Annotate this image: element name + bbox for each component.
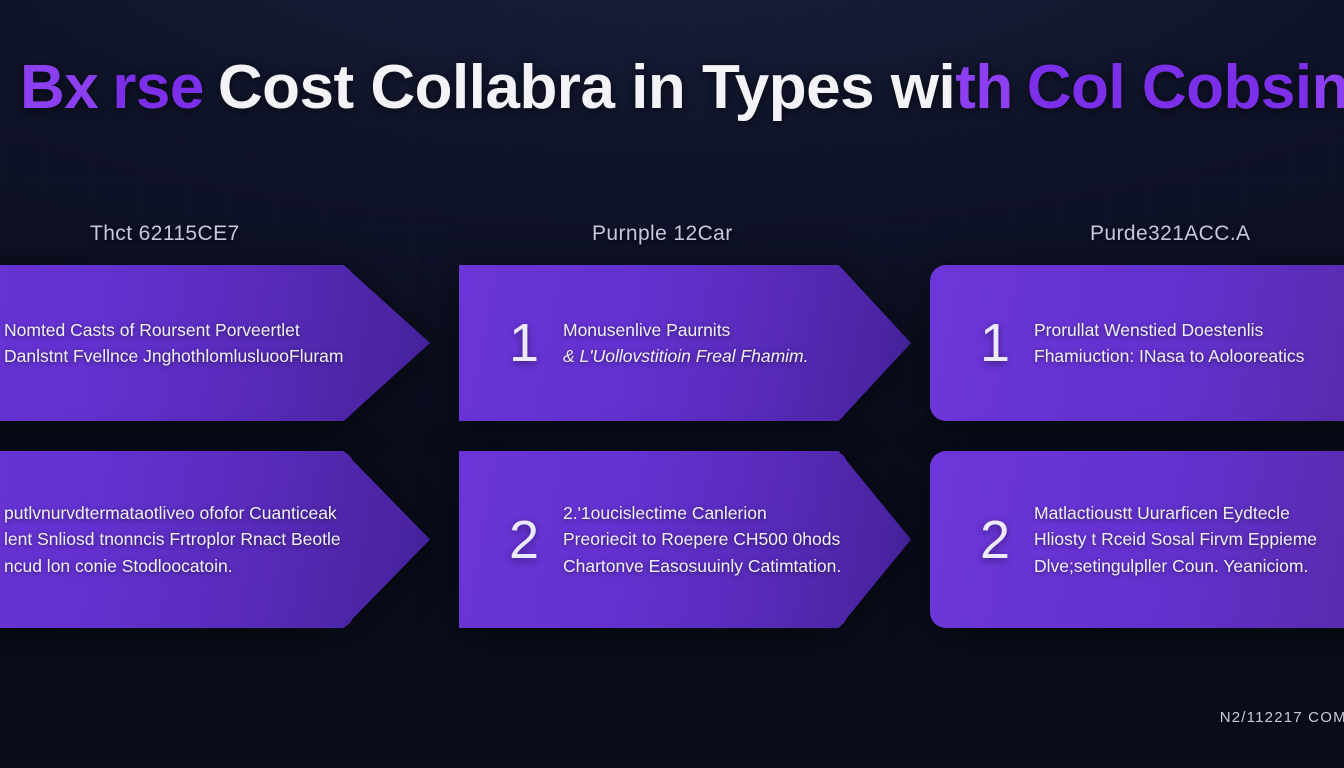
card-text-line: Fhamiuction: INasa to Aolooreatics xyxy=(1034,343,1344,369)
card-row2-col1[interactable]: putlvnurvdtermataotliveo ofofor Cuantice… xyxy=(0,451,430,628)
card-text-line: Nomted Casts of Roursent Porveertlet xyxy=(4,317,404,343)
card-text-line: Chartonve Easosuuinly Catimtation. xyxy=(563,553,885,579)
title-segment-3: Cost Collabra in Types wi xyxy=(218,53,955,122)
card-text-line: Preoriecit to Roepere CH500 0hods xyxy=(563,526,885,552)
card-content: 2 Matlactioustt Uurarficen Eydtecle Hlio… xyxy=(930,451,1344,628)
card-text-line: Danlstnt Fvellnce JnghothlomlusluooFlura… xyxy=(4,343,404,369)
card-content: 1 Prorullat Wenstied Doestenlis Fhamiuct… xyxy=(930,265,1344,421)
card-text-line: lent Snliosd tnonncis Frtroplor Rnact Be… xyxy=(4,526,404,552)
card-row1-col2[interactable]: 1 Monusenlive Paurnits & L'Uollovstitioi… xyxy=(459,265,911,421)
card-text-line: putlvnurvdtermataotliveo ofofor Cuantice… xyxy=(4,500,404,526)
card-text-line: Hliosty t Rceid Sosal Firvm Eppieme xyxy=(1034,526,1344,552)
card-text-line: Prorullat Wenstied Doestenlis xyxy=(1034,317,1344,343)
card-row2-col3[interactable]: 2 Matlactioustt Uurarficen Eydtecle Hlio… xyxy=(930,451,1344,628)
card-number: 1 xyxy=(956,316,1034,370)
slide-canvas: BxrseCost Collabra in Types withCol Cobs… xyxy=(0,0,1344,768)
footer-label: N2/112217 COMP xyxy=(1220,709,1344,726)
card-content: Nomted Casts of Roursent Porveertlet Dan… xyxy=(0,265,430,421)
card-content: 2 2.'1oucislectime Canlerion Preoriecit … xyxy=(459,451,911,628)
card-row2-col2[interactable]: 2 2.'1oucislectime Canlerion Preoriecit … xyxy=(459,451,911,628)
title-segment-5: Col Cobsi xyxy=(1027,53,1312,122)
card-text-line: 2.'1oucislectime Canlerion xyxy=(563,500,885,526)
card-text: Monusenlive Paurnits & L'Uollovstitioin … xyxy=(563,317,885,370)
card-text-line: Dlve;setingulpller Coun. Yeaniciom. xyxy=(1034,553,1344,579)
card-row1-col1[interactable]: Nomted Casts of Roursent Porveertlet Dan… xyxy=(0,265,430,421)
column-header-row: Thct 62115CE7 Purnple 12Car Purde321ACC.… xyxy=(0,222,1344,262)
card-row-1: Nomted Casts of Roursent Porveertlet Dan… xyxy=(0,265,1344,421)
card-text-line: & L'Uollovstitioin Freal Fhamim. xyxy=(563,343,885,369)
card-number: 2 xyxy=(485,513,563,567)
card-text-line: Matlactioustt Uurarficen Eydtecle xyxy=(1034,500,1344,526)
title-segment-2: rse xyxy=(112,53,204,122)
card-content: 1 Monusenlive Paurnits & L'Uollovstitioi… xyxy=(459,265,911,421)
card-text: Nomted Casts of Roursent Porveertlet Dan… xyxy=(0,317,404,370)
card-text: Matlactioustt Uurarficen Eydtecle Hliost… xyxy=(1034,500,1344,579)
title-segment-6: n xyxy=(1312,53,1344,122)
card-text: putlvnurvdtermataotliveo ofofor Cuantice… xyxy=(0,500,404,579)
page-title-text: BxrseCost Collabra in Types withCol Cobs… xyxy=(20,57,1344,119)
column-header-1: Thct 62115CE7 xyxy=(90,222,240,246)
card-number: 1 xyxy=(485,316,563,370)
column-header-3: Purde321ACC.A xyxy=(1090,222,1250,246)
title-segment-1: Bx xyxy=(20,53,98,122)
card-row1-col3[interactable]: 1 Prorullat Wenstied Doestenlis Fhamiuct… xyxy=(930,265,1344,421)
page-title: BxrseCost Collabra in Types withCol Cobs… xyxy=(0,46,1344,130)
card-number: 2 xyxy=(956,513,1034,567)
card-text-line: ncud lon conie Stodloocatoin. xyxy=(4,553,404,579)
card-text: Prorullat Wenstied Doestenlis Fhamiuctio… xyxy=(1034,317,1344,370)
card-text-line: Monusenlive Paurnits xyxy=(563,317,885,343)
card-text: 2.'1oucislectime Canlerion Preoriecit to… xyxy=(563,500,885,579)
card-content: putlvnurvdtermataotliveo ofofor Cuantice… xyxy=(0,451,430,628)
card-row-2: putlvnurvdtermataotliveo ofofor Cuantice… xyxy=(0,451,1344,628)
column-header-2: Purnple 12Car xyxy=(592,222,733,246)
title-segment-4: th xyxy=(955,53,1013,122)
